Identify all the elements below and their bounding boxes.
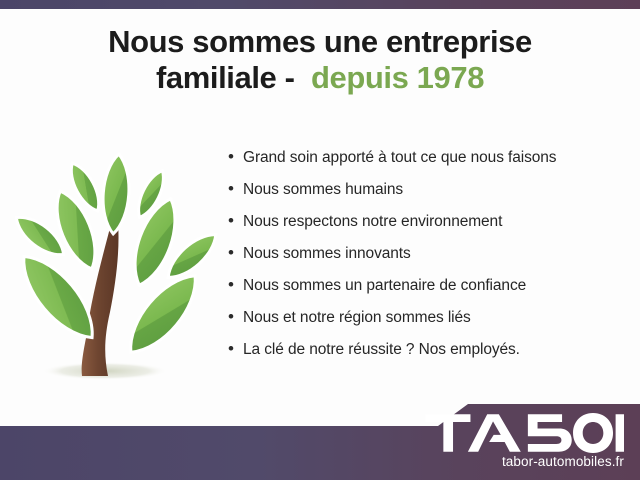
list-item-label: La clé de notre réussite ? Nos employés.: [243, 341, 520, 359]
list-item-label: Nous sommes innovants: [243, 245, 411, 263]
list-item: • Nous sommes humains: [228, 180, 628, 212]
bullet-marker-icon: •: [228, 212, 243, 229]
headline-line-2-black: familiale -: [156, 60, 311, 95]
list-item: • La clé de notre réussite ? Nos employé…: [228, 340, 628, 372]
bullet-marker-icon: •: [228, 180, 243, 197]
bullet-marker-icon: •: [228, 340, 243, 357]
bullet-marker-icon: •: [228, 276, 243, 293]
list-item-label: Grand soin apporté à tout ce que nous fa…: [243, 149, 556, 167]
list-item: • Nous sommes innovants: [228, 244, 628, 276]
list-item: • Nous sommes un partenaire de confiance: [228, 276, 628, 308]
benefits-list: • Grand soin apporté à tout ce que nous …: [228, 148, 628, 372]
list-item-label: Nous respectons notre environnement: [243, 213, 502, 231]
green-tree-icon: [8, 142, 223, 390]
list-item-label: Nous sommes un partenaire de confiance: [243, 277, 526, 295]
bullet-marker-icon: •: [228, 148, 243, 165]
list-item-label: Nous et notre région sommes liés: [243, 309, 471, 327]
headline-line-1: Nous sommes une entreprise: [0, 24, 640, 60]
footer-shape: [0, 404, 640, 480]
list-item: • Nous et notre région sommes liés: [228, 308, 628, 340]
footer-band: tabor-automobiles.fr: [0, 398, 640, 480]
top-accent-band: [0, 0, 640, 9]
headline-line-2-green: depuis 1978: [311, 60, 484, 95]
bullet-marker-icon: •: [228, 308, 243, 325]
list-item: • Grand soin apporté à tout ce que nous …: [228, 148, 628, 180]
headline-line-2: familiale - depuis 1978: [0, 60, 640, 96]
list-item-label: Nous sommes humains: [243, 181, 403, 199]
bullet-marker-icon: •: [228, 244, 243, 261]
slide-canvas: Nous sommes une entreprise familiale - d…: [0, 0, 640, 480]
page-title: Nous sommes une entreprise familiale - d…: [0, 24, 640, 97]
list-item: • Nous respectons notre environnement: [228, 212, 628, 244]
